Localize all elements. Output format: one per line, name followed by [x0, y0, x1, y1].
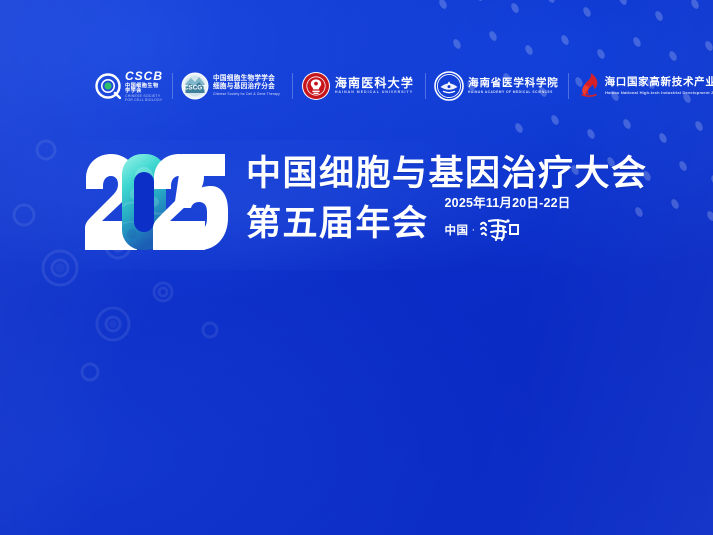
- logo-cscgt-en: Chinese Society for Cell & Gene Therapy: [213, 93, 280, 96]
- haikou-calligraphy-icon: [479, 217, 525, 243]
- logo-hainan-academy-en: HAINAN ACADEMY OF MEDICAL SCIENCES: [468, 91, 555, 94]
- conference-location: 中国 ·: [445, 219, 526, 241]
- haikou-flame-icon: [577, 72, 601, 100]
- title-column: 中国细胞与基因治疗大会 第五届年会 2025年11月20日-22日 中国 ·: [246, 152, 648, 242]
- hainan-medical-university-seal-icon: [301, 71, 331, 101]
- year-2025: [84, 154, 232, 250]
- logo-cscb: CSCB 中国细胞生物学学会 CHINESE SOCIETY FOR CELL …: [86, 66, 172, 106]
- cscb-ring-icon: [95, 73, 121, 99]
- logo-cscgt: CSCGT 中国细胞生物学学会 细胞与基因治疗分会 Chinese Societ…: [172, 66, 292, 106]
- logo-haikou-hitech-zone: 海口国家高新技术产业开发区 Haikou National High-tech …: [568, 66, 713, 106]
- location-country: 中国: [445, 222, 469, 238]
- conference-poster: CSCB 中国细胞生物学学会 CHINESE SOCIETY FOR CELL …: [0, 0, 713, 535]
- logo-haikou-hitech-zone-cn: 海口国家高新技术产业开发区: [605, 77, 713, 88]
- conference-date: 2025年11月20日-22日: [445, 192, 571, 211]
- logo-haikou-hitech-zone-en: Haikou National High-tech Industrial Dev…: [605, 91, 713, 95]
- digit-5: [173, 154, 228, 250]
- location-city-calligraphy: [479, 219, 525, 241]
- logo-cscgt-cn-line2: 细胞与基因治疗分会: [213, 84, 283, 91]
- logo-cscb-cn: 中国细胞生物学学会: [125, 84, 163, 94]
- conference-title-sub: 第五届年会: [246, 206, 429, 242]
- logo-hainan-academy-cn: 海南省医学科学院: [468, 78, 558, 89]
- logo-hainan-academy-medical-sciences: 海南省医学科学院 HAINAN ACADEMY OF MEDICAL SCIEN…: [425, 66, 567, 106]
- logo-hainan-medical-university-en: HAINAN MEDICAL UNIVERSITY: [335, 92, 413, 95]
- headline-block: 中国细胞与基因治疗大会 第五届年会 2025年11月20日-22日 中国 ·: [84, 152, 648, 250]
- svg-text:CSCGT: CSCGT: [184, 85, 206, 92]
- conference-title-main: 中国细胞与基因治疗大会: [246, 156, 648, 192]
- logo-hainan-medical-university-cn: 海南医科大学: [335, 77, 416, 89]
- logo-cscgt-cn-line1: 中国细胞生物学学会: [213, 76, 283, 83]
- logo-cscb-acronym: CSCB: [125, 70, 163, 82]
- year-2025-glyphs: [84, 154, 232, 250]
- cscgt-globe-icon: CSCGT: [181, 72, 209, 100]
- sponsor-logo-strip: CSCB 中国细胞生物学学会 CHINESE SOCIETY FOR CELL …: [86, 62, 713, 110]
- logo-cscb-en: CHINESE SOCIETY FOR CELL BIOLOGY: [125, 95, 163, 102]
- logo-hainan-medical-university: 海南医科大学 HAINAN MEDICAL UNIVERSITY: [292, 66, 425, 106]
- location-separator: ·: [472, 224, 476, 236]
- meta-column: 2025年11月20日-22日 中国 ·: [445, 192, 571, 242]
- hainan-academy-seal-icon: [434, 71, 464, 101]
